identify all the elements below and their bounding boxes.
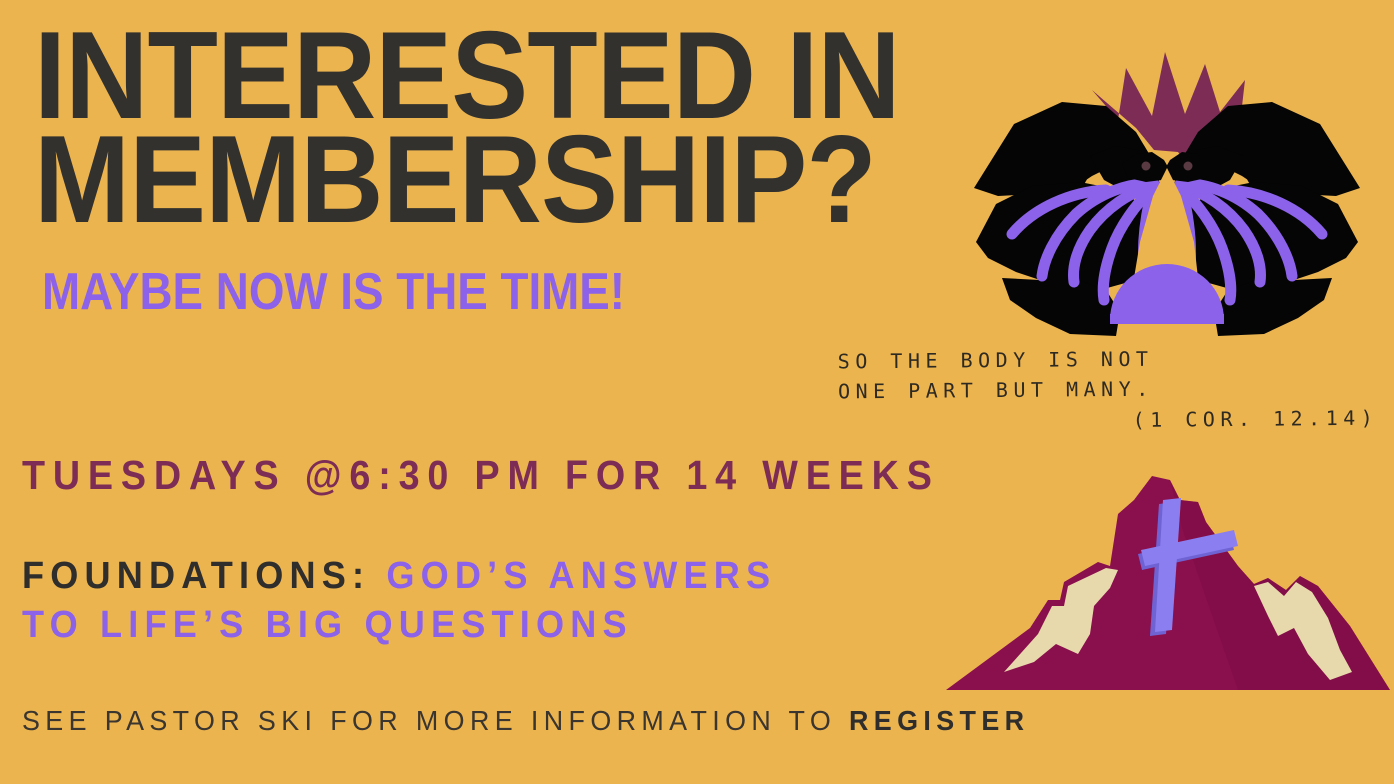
membership-flyer: INTERESTED IN MEMBERSHIP? MAYBE NOW IS T… — [0, 0, 1394, 784]
course-value-line-2: TO LIFE’S BIG QUESTIONS — [22, 601, 776, 650]
headline-line-2: MEMBERSHIP? — [34, 128, 945, 232]
headline: INTERESTED IN MEMBERSHIP? — [34, 24, 1014, 232]
scripture-line-1: SO THE BODY IS NOT — [838, 347, 1154, 374]
dome-base — [1110, 314, 1224, 324]
course-label: FOUNDATIONS: — [22, 555, 370, 597]
register-emphasis: REGISTER — [849, 705, 1029, 736]
left-dove-eye — [1142, 162, 1151, 171]
footer-note: SEE PASTOR SKI FOR MORE INFORMATION TO R… — [22, 707, 1029, 735]
course-title: FOUNDATIONS: GOD’S ANSWERS TO LIFE’S BIG… — [22, 552, 816, 649]
scripture-quote: SO THE BODY IS NOT ONE PART BUT MANY. (1… — [838, 342, 1394, 438]
doves-illustration — [940, 28, 1394, 350]
course-title-row-1: FOUNDATIONS: GOD’S ANSWERS — [22, 552, 776, 601]
scripture-line-2: ONE PART BUT MANY. — [838, 377, 1154, 404]
mountain-illustration — [938, 458, 1394, 702]
right-dove-eye — [1184, 162, 1193, 171]
subheadline: MAYBE NOW IS THE TIME! — [42, 266, 625, 318]
scripture-reference: (1 COR. 12.14) — [838, 402, 1394, 437]
schedule-line: TUESDAYS @6:30 PM FOR 14 WEEKS — [22, 455, 940, 496]
course-value-line-1: GOD’S ANSWERS — [386, 555, 776, 597]
footer-lead-text: SEE PASTOR SKI FOR MORE INFORMATION TO — [22, 705, 849, 736]
